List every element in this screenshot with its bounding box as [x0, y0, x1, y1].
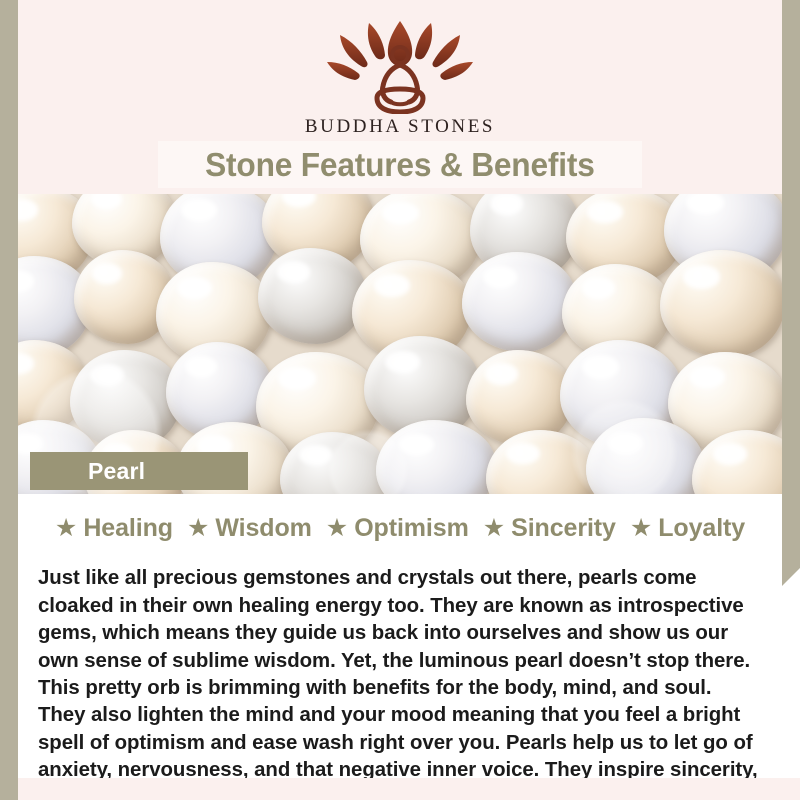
star-icon: ★ [630, 516, 652, 541]
benefit-label: Healing [83, 514, 173, 543]
frame-right-edge [782, 0, 800, 586]
lotus-meditation-figure-icon [325, 18, 475, 114]
benefit-label: Wisdom [215, 514, 311, 543]
benefit-label: Optimism [354, 514, 469, 543]
star-icon: ★ [187, 516, 209, 541]
brand-logo-block: BUDDHA STONES [0, 18, 800, 138]
benefits-row: ★ Healing ★ Wisdom ★ Optimism ★ Sincerit… [18, 514, 782, 543]
brand-wordmark: BUDDHA STONES [0, 116, 800, 138]
frame-bottom-left-corner [0, 778, 18, 800]
star-icon: ★ [483, 516, 505, 541]
page-title: Stone Features & Benefits [205, 146, 595, 184]
benefit-item-sincerity: ★ Sincerity [483, 514, 616, 543]
stone-photo [0, 194, 800, 494]
stone-name-banner: Pearl [30, 452, 248, 490]
frame-left-edge [0, 0, 18, 800]
frame-right-lower-fill [782, 586, 800, 778]
stone-benefits-infographic: BUDDHA STONES Stone Features & Benefits [0, 0, 800, 800]
stone-photo-canvas [0, 194, 800, 494]
frame-bottom-edge [0, 778, 800, 800]
benefit-item-wisdom: ★ Wisdom [187, 514, 312, 543]
star-icon: ★ [55, 516, 77, 541]
benefit-item-loyalty: ★ Loyalty [630, 514, 745, 543]
star-icon: ★ [326, 516, 348, 541]
benefit-item-optimism: ★ Optimism [326, 514, 469, 543]
benefit-label: Loyalty [658, 514, 745, 543]
title-banner: Stone Features & Benefits [158, 141, 642, 188]
stone-name-label: Pearl [30, 458, 145, 485]
benefit-label: Sincerity [511, 514, 616, 543]
description-text: Just like all precious gemstones and cry… [38, 565, 764, 800]
benefit-item-healing: ★ Healing [55, 514, 173, 543]
